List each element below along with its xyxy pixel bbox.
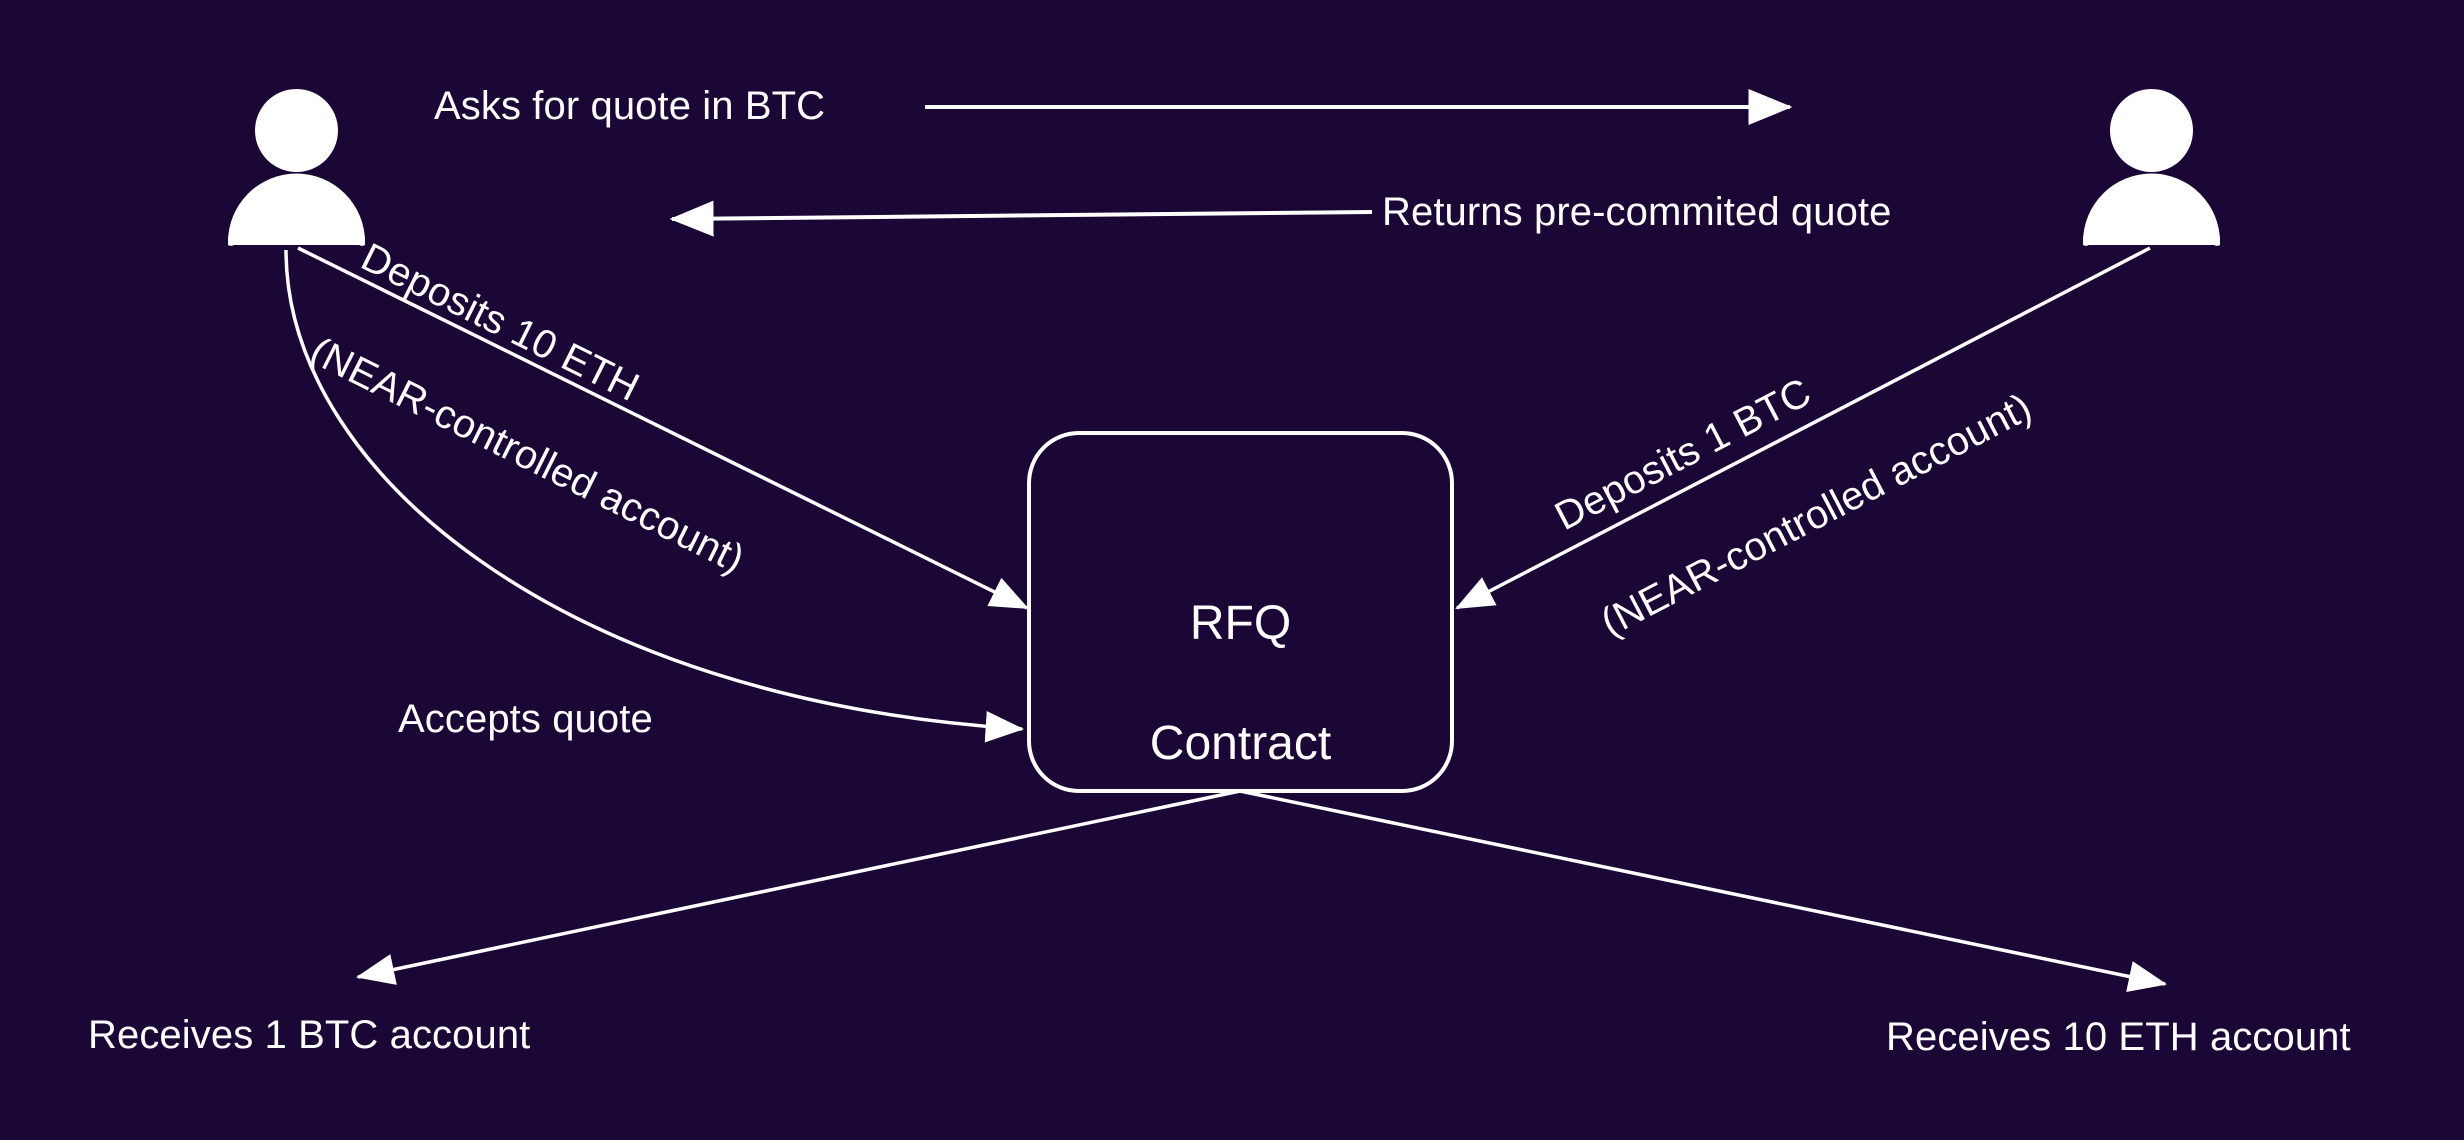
- label-returns-quote: Returns pre-commited quote: [1382, 190, 1892, 234]
- diagram-canvas: RFQ Contract Asks for quote in BTC Retur…: [0, 0, 2464, 1140]
- label-receives-eth: Receives 10 ETH account: [1886, 1015, 2351, 1059]
- edge-deposits-btc: [1457, 248, 2150, 608]
- rfq-contract-label-line1: RFQ: [1029, 594, 1452, 654]
- person-icon-left: [228, 89, 365, 246]
- rfq-contract-label: RFQ Contract: [1029, 534, 1452, 834]
- edge-returns-quote: [672, 212, 1372, 219]
- edge-deposits-eth: [298, 248, 1027, 608]
- label-asks-for-quote: Asks for quote in BTC: [434, 84, 825, 128]
- label-receives-btc: Receives 1 BTC account: [88, 1013, 530, 1057]
- person-icon-right: [2083, 89, 2220, 246]
- rfq-contract-label-line2: Contract: [1029, 714, 1452, 774]
- label-accepts-quote: Accepts quote: [398, 697, 653, 741]
- edge-accepts-quote: [286, 250, 1022, 729]
